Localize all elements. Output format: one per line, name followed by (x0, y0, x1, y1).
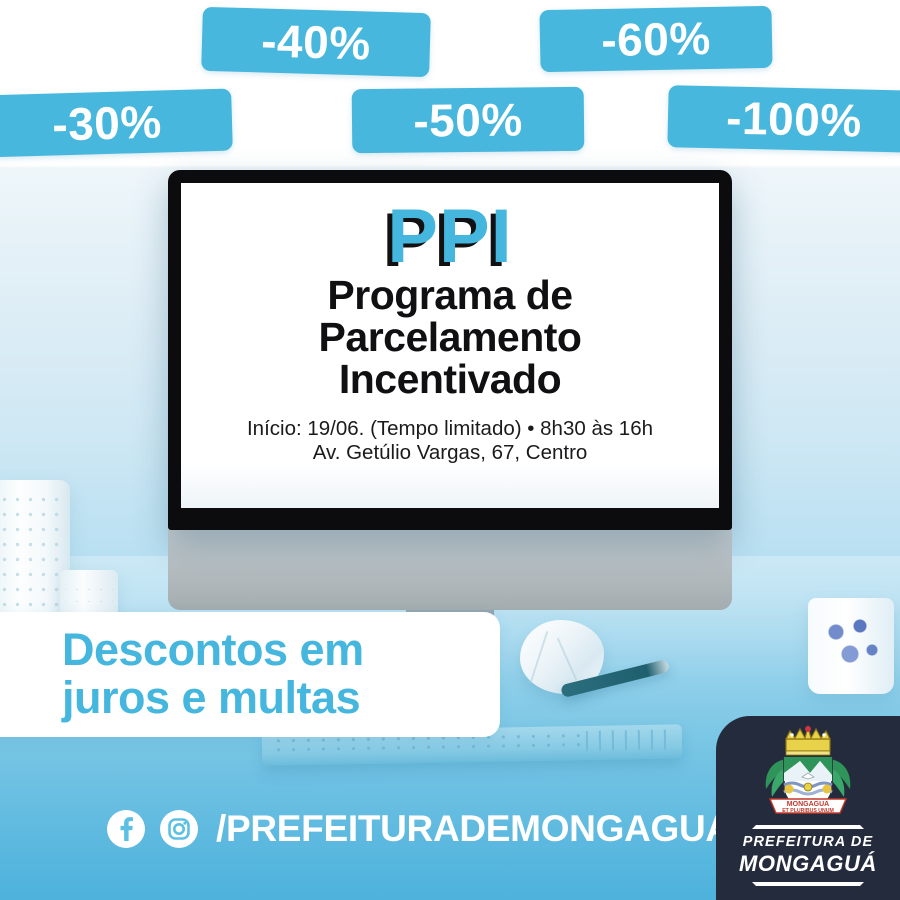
svg-text:ET PLURIBUS UNUM: ET PLURIBUS UNUM (782, 808, 834, 814)
discount-badge-60: -60% (539, 6, 772, 72)
discount-badge-40: -40% (201, 7, 431, 77)
monitor-screen: PPI PPI Programa de Parcelamento Incenti… (181, 183, 719, 508)
discount-highlight-text: Descontos em juros e multas (62, 626, 466, 721)
program-details: Início: 19/06. (Tempo limitado) • 8h30 à… (247, 417, 653, 466)
ppi-logo: PPI PPI (387, 201, 513, 273)
discount-badge-50: -50% (352, 87, 585, 153)
svg-text:MONGAGUA: MONGAGUA (787, 801, 829, 808)
logo-line-mongagua: MONGAGUÁ (739, 851, 877, 877)
ppi-logo-front: PPI (387, 194, 513, 279)
discount-badge-100: -100% (667, 85, 900, 153)
program-detail-address: Av. Getúlio Vargas, 67, Centro (247, 441, 653, 466)
logo-divider-bottom (752, 882, 864, 886)
monitor-chin (168, 530, 732, 610)
poster-canvas: PPI PPI Programa de Parcelamento Incenti… (0, 0, 900, 900)
program-title-line-2: Parcelamento (319, 317, 582, 359)
discount-highlight-panel: Descontos em juros e multas (0, 612, 500, 737)
discount-highlight-line-2: juros e multas (62, 674, 466, 722)
discount-badge-30: -30% (0, 89, 233, 158)
program-title-line-3: Incentivado (319, 359, 582, 401)
mongagua-coat-of-arms-icon: MONGAGUA ET PLURIBUS UNUM (756, 725, 860, 821)
program-detail-schedule: Início: 19/06. (Tempo limitado) • 8h30 à… (247, 417, 653, 442)
desktop-monitor: PPI PPI Programa de Parcelamento Incenti… (168, 170, 732, 610)
program-title: Programa de Parcelamento Incentivado (319, 275, 582, 400)
facebook-icon[interactable] (106, 809, 146, 849)
logo-divider-top (752, 825, 864, 829)
social-media-row: /PREFEITURADEMONGAGUA (106, 808, 732, 850)
coffee-mug (808, 598, 894, 694)
discount-highlight-line-1: Descontos em (62, 626, 466, 674)
logo-line-prefeitura: PREFEITURA DE (743, 834, 874, 850)
city-logo-panel: MONGAGUA ET PLURIBUS UNUM PREFEITURA DE … (716, 716, 900, 900)
instagram-icon[interactable] (159, 809, 199, 849)
monitor-bezel: PPI PPI Programa de Parcelamento Incenti… (168, 170, 732, 530)
social-handle[interactable]: /PREFEITURADEMONGAGUA (216, 808, 732, 850)
